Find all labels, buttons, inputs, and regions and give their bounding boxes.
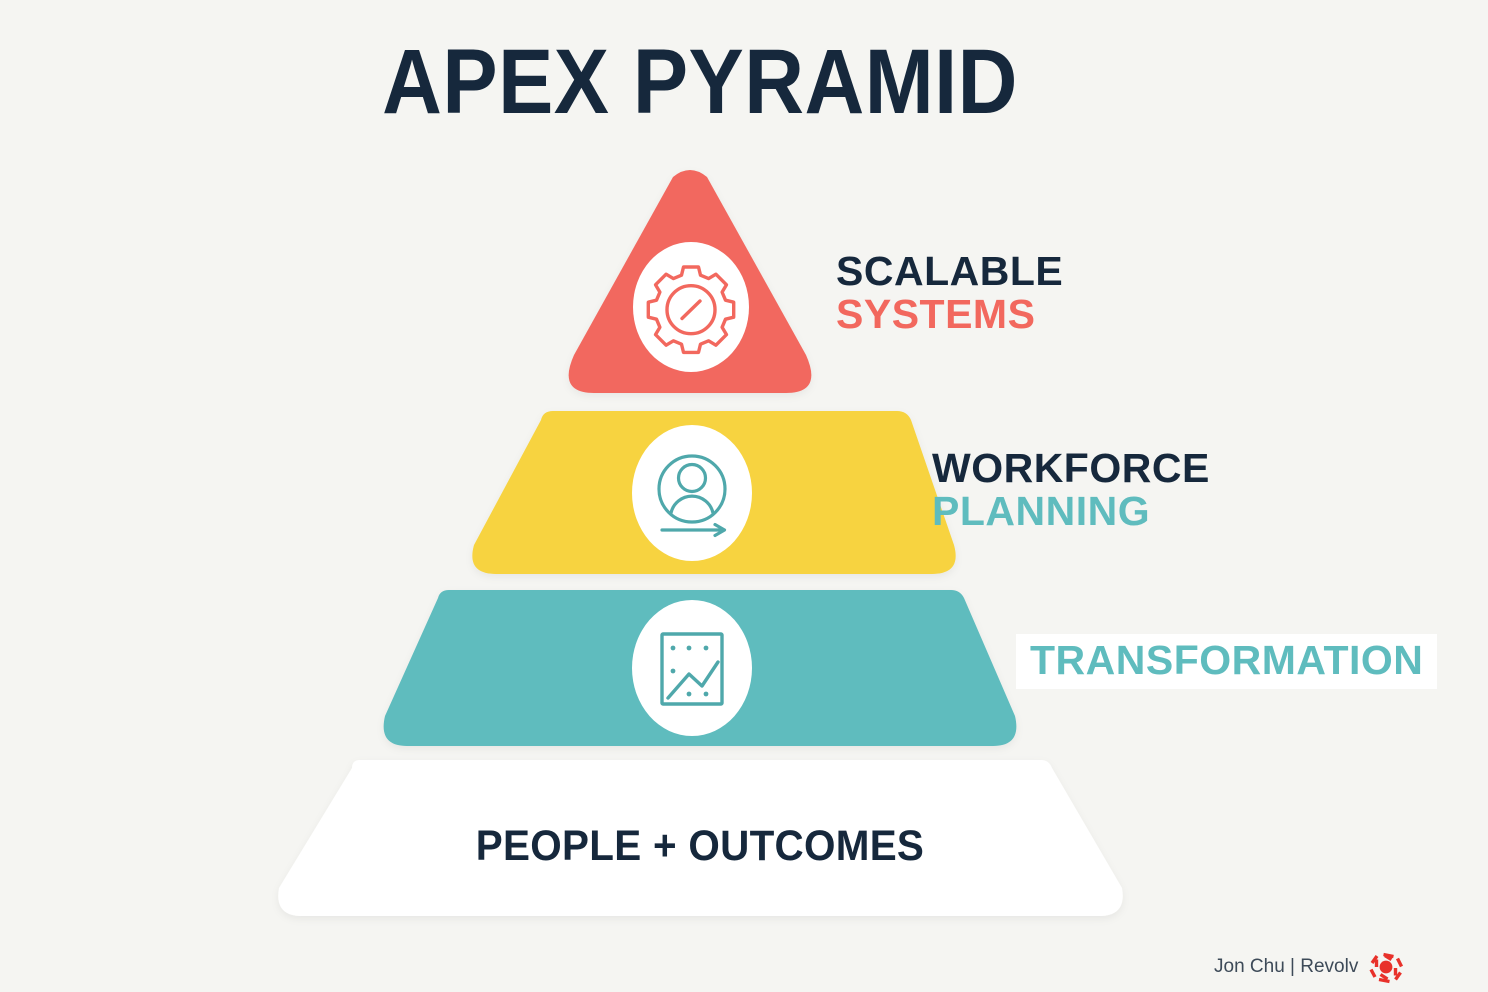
- tier-4-label: PEOPLE + OUTCOMES: [301, 822, 1100, 871]
- tier-2-label: WORKFORCE PLANNING: [932, 447, 1210, 534]
- tier-2-label-line1: WORKFORCE: [932, 447, 1210, 490]
- page-title: APEX PYRAMID: [70, 34, 1330, 131]
- pyramid-tier-3-transformation[interactable]: [384, 590, 1017, 746]
- tier-2-shape[interactable]: [472, 411, 955, 574]
- tier-1-shape[interactable]: [569, 170, 812, 393]
- tier-1-label: SCALABLE SYSTEMS: [836, 250, 1063, 337]
- footer-credit-text: Jon Chu | Revolv: [1214, 956, 1358, 978]
- tier-3-label: TRANSFORMATION: [1016, 634, 1437, 689]
- pyramid-tier-2-workforce[interactable]: [472, 411, 955, 574]
- tier-2-label-line2: PLANNING: [932, 490, 1210, 533]
- slide-canvas: APEX PYRAMID: [0, 0, 1488, 992]
- pyramid-tier-1-scalable[interactable]: [569, 170, 812, 393]
- tier-1-label-line2: SYSTEMS: [836, 293, 1063, 336]
- revolv-aperture-logo: [1364, 945, 1408, 989]
- tier-1-label-line1: SCALABLE: [836, 250, 1063, 293]
- footer-credit: Jon Chu | Revolv: [1214, 945, 1408, 989]
- tier-3-shape[interactable]: [384, 590, 1017, 746]
